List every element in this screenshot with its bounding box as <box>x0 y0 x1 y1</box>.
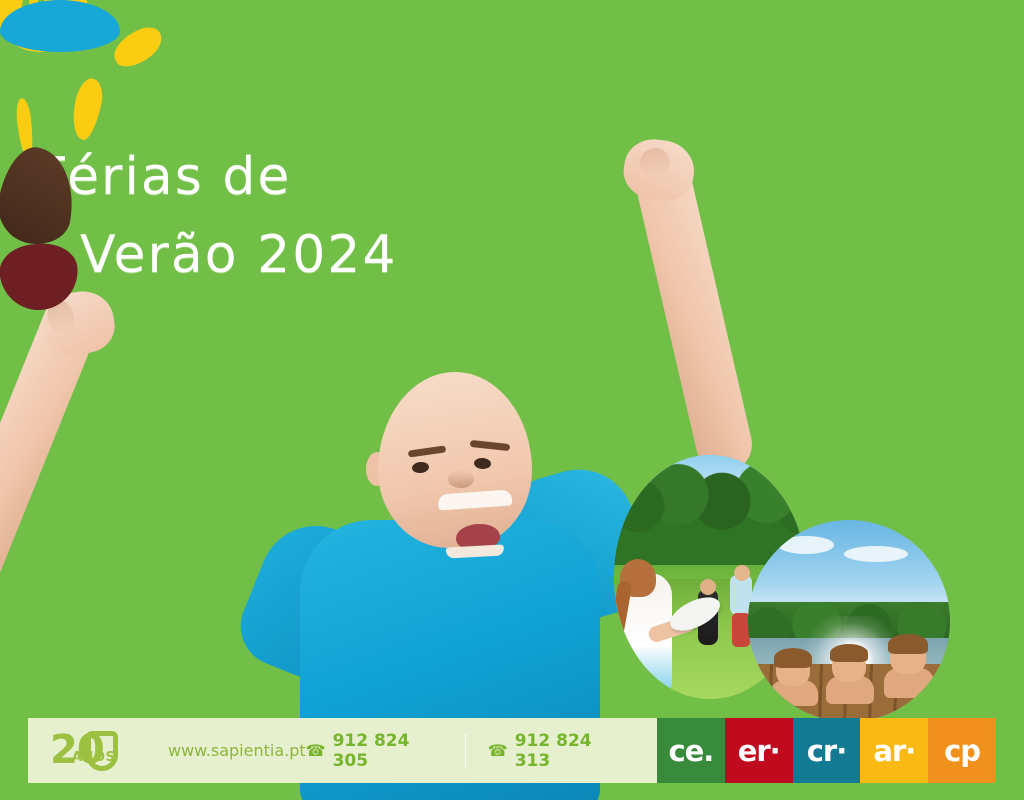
boy-nose <box>448 470 474 488</box>
child-hair <box>830 644 868 662</box>
boy-collar <box>0 0 120 52</box>
brand-tile-cp[interactable]: cp <box>928 718 996 783</box>
brand-tile-er[interactable]: er· <box>725 718 793 783</box>
brand-tile-cr[interactable]: cr· <box>793 718 861 783</box>
cloud <box>778 536 834 554</box>
anniversary-logo: 20 ANOS <box>50 728 124 774</box>
brand-tiles: ce. er· cr· ar· cp <box>657 718 996 783</box>
boy-right-knuckles <box>640 148 670 178</box>
phone-numbers-group: ☎ 912 824 305 ☎ 912 824 313 <box>306 731 657 771</box>
brand-tile-ar[interactable]: ar· <box>860 718 928 783</box>
summer-camp-poster: Férias de Verão 2024 <box>0 0 1024 800</box>
cloud <box>844 546 908 562</box>
phone-icon: ☎ <box>306 741 326 760</box>
child-hair <box>774 648 812 668</box>
phone-number-1[interactable]: ☎ 912 824 305 <box>306 731 443 771</box>
brand-tile-ce[interactable]: ce. <box>657 718 725 783</box>
boy-hair <box>0 46 179 154</box>
photo-kids-splashing-lake-dock <box>748 520 950 722</box>
website-link[interactable]: www.sapientia.pt <box>168 741 306 760</box>
phone-icon: ☎ <box>488 741 508 760</box>
boy-hair-side <box>0 142 82 249</box>
phone-number-2[interactable]: ☎ 912 824 313 <box>488 731 625 771</box>
phone-divider <box>465 734 466 768</box>
child-head <box>700 579 716 595</box>
footer-contact-strip: 20 ANOS www.sapientia.pt ☎ 912 824 305 ☎… <box>28 718 657 783</box>
boy-head <box>378 372 532 548</box>
phone-number-1-text: 912 824 305 <box>333 731 443 771</box>
footer-bar: 20 ANOS www.sapientia.pt ☎ 912 824 305 ☎… <box>28 718 996 783</box>
phone-number-2-text: 912 824 313 <box>515 731 625 771</box>
anniversary-label: ANOS <box>72 750 115 765</box>
child-hair <box>888 634 928 654</box>
